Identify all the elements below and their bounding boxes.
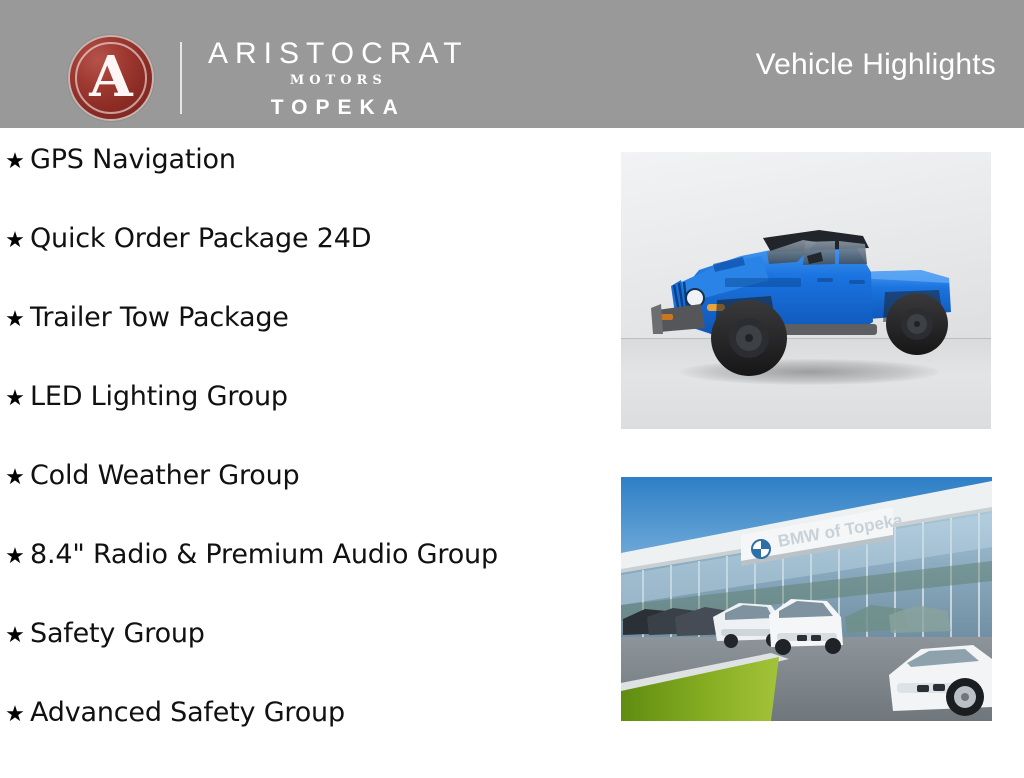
list-item: ★ Advanced Safety Group [0, 699, 600, 778]
star-icon: ★ [0, 388, 30, 410]
star-icon: ★ [0, 704, 30, 726]
list-item-label: Safety Group [30, 620, 205, 647]
list-item: ★ Quick Order Package 24D [0, 225, 600, 304]
aristocrat-emblem-icon: A [70, 37, 152, 119]
page-header: A ARISTOCRAT MOTORS TOPEKA Vehicle Highl… [0, 0, 1024, 128]
star-icon: ★ [0, 151, 30, 173]
emblem-letter: A [89, 49, 132, 105]
list-item: ★ Safety Group [0, 620, 600, 699]
bmw-of-topeka-illustration: BMW of Topeka [621, 477, 992, 721]
page-title: Vehicle Highlights [756, 48, 996, 82]
star-icon: ★ [0, 230, 30, 252]
star-icon: ★ [0, 625, 30, 647]
list-item-label: Quick Order Package 24D [30, 225, 371, 252]
brand-logo: A ARISTOCRAT MOTORS TOPEKA [70, 30, 469, 126]
star-icon: ★ [0, 546, 30, 568]
brand-wordmark: ARISTOCRAT MOTORS TOPEKA [208, 36, 469, 119]
list-item: ★ 8.4" Radio & Premium Audio Group [0, 541, 600, 620]
star-icon: ★ [0, 309, 30, 331]
list-item-label: GPS Navigation [30, 146, 236, 173]
brand-subtitle: MOTORS [290, 71, 387, 92]
star-icon: ★ [0, 467, 30, 489]
list-item-label: Cold Weather Group [30, 462, 299, 489]
brand-city: TOPEKA [271, 95, 406, 120]
list-item: ★ Trailer Tow Package [0, 304, 600, 383]
list-item: ★ GPS Navigation [0, 146, 600, 225]
list-item: ★ LED Lighting Group [0, 383, 600, 462]
list-item-label: Trailer Tow Package [30, 304, 289, 331]
vehicle-photo [621, 152, 991, 429]
brand-name: ARISTOCRAT [208, 38, 469, 70]
list-item-label: Advanced Safety Group [30, 699, 345, 726]
logo-divider [180, 42, 182, 114]
jeep-gladiator-illustration [621, 152, 991, 429]
list-item: ★ Cold Weather Group [0, 462, 600, 541]
list-item-label: 8.4" Radio & Premium Audio Group [30, 541, 498, 568]
list-item-label: LED Lighting Group [30, 383, 288, 410]
dealership-photo: BMW of Topeka [621, 477, 992, 721]
vehicle-highlights-list: ★ GPS Navigation ★ Quick Order Package 2… [0, 128, 600, 778]
